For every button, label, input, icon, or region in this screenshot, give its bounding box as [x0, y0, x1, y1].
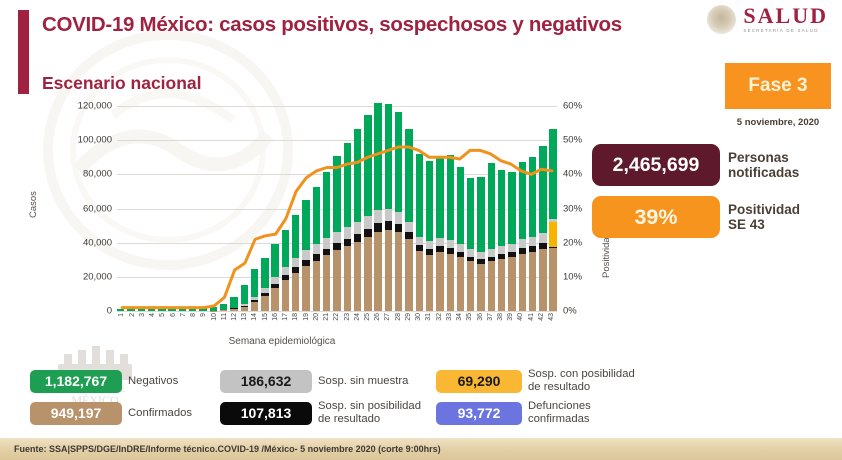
bar-segment: [498, 170, 505, 246]
chart-bar: [488, 163, 495, 311]
legend-label: Sosp. sin posibilidadde resultado: [318, 400, 430, 426]
bar-segment: [405, 129, 412, 221]
personas-notificadas-label: Personas notificadas: [728, 150, 799, 180]
bar-segment: [261, 296, 268, 311]
x-tick-label: 31: [425, 313, 432, 321]
y2-tick-label: 0%: [563, 306, 577, 317]
bar-segment: [374, 103, 381, 210]
bar-segment: [426, 255, 433, 311]
bar-segment: [508, 244, 515, 252]
bar-segment: [508, 257, 515, 311]
fase-label: Fase 3: [748, 75, 807, 97]
chart-bar: [210, 307, 217, 311]
chart-plot-area: 020,00040,00060,00080,000100,000120,000 …: [117, 106, 557, 311]
x-tick-label: 19: [303, 313, 310, 321]
chart-bar: [519, 162, 526, 311]
y-tick-label: 20,000: [83, 271, 112, 282]
bar-segment: [302, 266, 309, 311]
mexico-seal-icon: [707, 5, 736, 34]
bar-segment: [416, 237, 423, 246]
x-tick-label: 27: [384, 313, 391, 321]
bar-segment: [333, 250, 340, 311]
bar-segment: [158, 309, 165, 311]
bar-segment: [323, 255, 330, 311]
legend-value-chip: 69,290: [436, 370, 522, 393]
bar-segment: [199, 308, 206, 311]
bar-segment: [539, 249, 546, 311]
y2-tick-label: 10%: [563, 271, 582, 282]
bar-segment: [385, 230, 392, 311]
legend-label: Negativos: [128, 375, 214, 388]
x-tick-label: 26: [374, 313, 381, 321]
chart-bar: [220, 304, 227, 311]
bar-segment: [498, 246, 505, 254]
bar-segment: [282, 230, 289, 268]
x-tick-label: 24: [354, 313, 361, 321]
bar-segment: [354, 129, 361, 222]
bar-segment: [364, 229, 371, 237]
x-tick-label: 37: [487, 313, 494, 321]
bar-segment: [457, 244, 464, 252]
bar-segment: [374, 232, 381, 311]
legend-label-line1: Sosp. con posibilidad: [528, 368, 638, 381]
page-header: COVID-19 México: casos positivos, sospec…: [0, 0, 842, 52]
x-tick-label: 15: [262, 313, 269, 321]
bar-segment: [539, 146, 546, 233]
bar-segment: [477, 177, 484, 252]
legend-label-line1: Sosp. sin posibilidad: [318, 400, 430, 413]
x-tick-label: 22: [333, 313, 340, 321]
bar-segment: [436, 238, 443, 247]
bar-segment: [374, 223, 381, 232]
bar-segment: [344, 143, 351, 227]
legend-value-chip: 186,632: [220, 370, 312, 393]
chart-bar: [158, 309, 165, 311]
bar-segment: [405, 232, 412, 239]
bar-segment: [549, 222, 556, 247]
chart-bar: [436, 156, 443, 311]
salud-wordmark: SALUD: [743, 5, 828, 27]
x-tick-label: 14: [251, 313, 258, 321]
bar-segment: [179, 309, 186, 311]
chart-bar: [447, 155, 454, 311]
legend-label: Confirmados: [128, 407, 214, 420]
bar-segment: [344, 227, 351, 239]
bar-segment: [323, 249, 330, 256]
bar-segment: [282, 267, 289, 275]
bar-segment: [447, 155, 454, 240]
chart-bar: [385, 104, 392, 311]
chart-bar: [199, 308, 206, 311]
chart-bar: [477, 177, 484, 311]
chart-bar: [117, 309, 124, 311]
bar-segment: [313, 187, 320, 244]
x-tick-label: 34: [456, 313, 463, 321]
chart-bar: [529, 157, 536, 311]
report-date: 5 noviembre, 2020: [722, 117, 834, 128]
bar-segment: [395, 232, 402, 311]
bar-segment: [405, 222, 412, 233]
bar-segment: [241, 285, 248, 304]
bar-segment: [364, 237, 371, 311]
x-tick-label: 23: [344, 313, 351, 321]
y2-tick-label: 50%: [563, 135, 582, 146]
x-tick-label: 39: [507, 313, 514, 321]
chart-legend: 1,182,767Negativos186,632Sosp. sin muest…: [30, 368, 650, 426]
chart-bar: [508, 172, 515, 311]
bar-segment: [519, 239, 526, 248]
bar-segment: [529, 157, 536, 237]
bar-segment: [333, 156, 340, 232]
x-tick-label: 12: [231, 313, 238, 321]
y-axis-title: Casos: [28, 191, 39, 218]
legend-label-line2: confirmadas: [528, 413, 638, 426]
chart-bar: [179, 309, 186, 311]
bar-segment: [519, 254, 526, 311]
chart-bar: [282, 230, 289, 311]
title-accent-bar: [18, 10, 29, 94]
x-tick-label: 21: [323, 313, 330, 321]
epidemic-curve-chart: Casos Positividad Semana epidemiológica …: [32, 100, 592, 355]
bar-segment: [467, 261, 474, 311]
bar-segment: [292, 215, 299, 259]
y-tick-label: 0: [107, 306, 112, 317]
bar-segment: [395, 112, 402, 213]
bar-segment: [271, 277, 278, 284]
chart-bar: [168, 309, 175, 311]
x-tick-label: 4: [149, 313, 156, 317]
bar-segment: [529, 252, 536, 311]
x-tick-label: 6: [170, 313, 177, 317]
bar-segment: [436, 156, 443, 238]
bar-segment: [271, 244, 278, 277]
legend-label: Defuncionesconfirmadas: [528, 400, 638, 426]
bar-segment: [313, 261, 320, 311]
bar-segment: [271, 288, 278, 311]
x-tick-label: 9: [200, 313, 207, 317]
bar-segment: [354, 234, 361, 242]
chart-bar: [364, 115, 371, 311]
y2-tick-label: 40%: [563, 169, 582, 180]
chart-bar: [344, 143, 351, 311]
chart-bar: [323, 172, 330, 311]
bar-segment: [405, 239, 412, 311]
legend-label-line1: Defunciones: [528, 400, 638, 413]
bar-segment: [220, 310, 227, 311]
bar-segment: [148, 309, 155, 311]
chart-bar: [189, 309, 196, 311]
bar-segment: [230, 297, 237, 308]
bar-segment: [539, 233, 546, 243]
chart-bar: [539, 146, 546, 311]
legend-value-chip: 1,182,767: [30, 370, 122, 393]
chart-bar: [333, 156, 340, 311]
legend-value-chip: 949,197: [30, 402, 122, 425]
bar-segment: [529, 237, 536, 246]
y2-tick-label: 30%: [563, 203, 582, 214]
bar-segment: [354, 222, 361, 234]
bar-segment: [395, 212, 402, 224]
bar-segment: [189, 309, 196, 311]
chart-bar: [457, 167, 464, 311]
x-tick-label: 41: [528, 313, 535, 321]
bar-segment: [457, 257, 464, 311]
bar-segment: [374, 210, 381, 223]
bar-segment: [549, 129, 556, 220]
x-tick-label: 32: [436, 313, 443, 321]
bar-segment: [251, 302, 258, 311]
bar-segment: [549, 248, 556, 311]
stat-positividad: 39% Positividad SE 43: [592, 196, 800, 238]
x-tick-label: 30: [415, 313, 422, 321]
x-tick-label: 13: [241, 313, 248, 321]
chart-bar: [241, 285, 248, 311]
bar-segment: [344, 246, 351, 311]
bar-segment: [333, 243, 340, 250]
chart-bar: [261, 258, 268, 311]
bar-segment: [488, 261, 495, 311]
x-tick-label: 1: [118, 313, 125, 317]
x-axis-title: Semana epidemiológica: [32, 336, 532, 347]
x-tick-label: 40: [517, 313, 524, 321]
positividad-value: 39%: [592, 196, 720, 238]
positividad-label-line2: SE 43: [728, 217, 800, 232]
bar-segment: [426, 161, 433, 240]
positividad-label: Positividad SE 43: [728, 202, 800, 232]
bar-segment: [467, 249, 474, 256]
chart-bar: [498, 170, 505, 311]
bar-segment: [477, 252, 484, 259]
bar-segment: [457, 167, 464, 244]
legend-value-chip: 107,813: [220, 402, 312, 425]
bar-segment: [313, 244, 320, 254]
footer-source-bar: Fuente: SSA|SPPS/DGE/InDRE/Informe técni…: [0, 438, 842, 460]
y2-tick-label: 20%: [563, 237, 582, 248]
chart-bar: [148, 309, 155, 311]
x-tick-label: 2: [129, 313, 136, 317]
legend-label-line2: de resultado: [528, 381, 638, 394]
legend-label-line2: de resultado: [318, 413, 430, 426]
x-tick-label: 18: [292, 313, 299, 321]
salud-logo: SALUD SECRETARÍA DE SALUD: [707, 5, 828, 34]
positividad-label-line1: Positividad: [728, 202, 800, 217]
legend-label: Sosp. sin muestra: [318, 375, 430, 388]
x-tick-label: 35: [466, 313, 473, 321]
bar-segment: [241, 307, 248, 311]
bar-segment: [519, 162, 526, 240]
x-tick-label: 16: [272, 313, 279, 321]
bar-segment: [395, 224, 402, 232]
bar-segment: [354, 242, 361, 311]
chart-bar: [426, 161, 433, 311]
bar-segment: [302, 250, 309, 260]
chart-bar: [313, 187, 320, 311]
bar-segment: [477, 264, 484, 311]
bar-segment: [333, 232, 340, 243]
chart-bar: [467, 178, 474, 311]
chart-bar: [354, 129, 361, 311]
chart-bar: [416, 154, 423, 311]
x-tick-label: 7: [180, 313, 187, 317]
x-tick-label: 10: [211, 313, 218, 321]
bar-segment: [251, 269, 258, 297]
bar-segment: [426, 241, 433, 249]
bar-segment: [467, 178, 474, 250]
x-tick-label: 33: [446, 313, 453, 321]
legend-value-chip: 93,772: [436, 402, 522, 425]
y-tick-label: 60,000: [83, 203, 112, 214]
chart-bar: [405, 129, 412, 311]
x-tick-label: 5: [159, 313, 166, 317]
x-tick-label: 38: [497, 313, 504, 321]
salud-subtitle: SECRETARÍA DE SALUD: [743, 29, 828, 33]
bar-segment: [416, 154, 423, 237]
bar-segment: [436, 252, 443, 311]
x-tick-label: 8: [190, 313, 197, 317]
bar-segment: [292, 258, 299, 267]
x-tick-label: 36: [477, 313, 484, 321]
chart-bar: [127, 309, 134, 311]
bar-segment: [292, 273, 299, 311]
chart-bar: [302, 200, 309, 311]
bar-segment: [508, 172, 515, 244]
x-tick-label: 43: [548, 313, 555, 321]
bar-segment: [323, 172, 330, 238]
footer-source-text: Fuente: SSA|SPPS/DGE/InDRE/Informe técni…: [0, 444, 441, 454]
chart-bar: [292, 215, 299, 312]
chart-bar: [374, 103, 381, 311]
bar-segment: [127, 309, 134, 311]
y-tick-label: 120,000: [78, 101, 112, 112]
bar-segment: [447, 240, 454, 248]
chart-bar: [230, 297, 237, 311]
x-tick-label: 11: [221, 313, 228, 320]
y-tick-label: 40,000: [83, 237, 112, 248]
y2-axis-title: Positividad: [601, 232, 612, 278]
bar-segment: [302, 200, 309, 250]
bar-segment: [364, 216, 371, 228]
bar-segment: [168, 309, 175, 311]
y-tick-label: 100,000: [78, 135, 112, 146]
personas-notificadas-label-line1: Personas: [728, 150, 799, 165]
y-tick-label: 80,000: [83, 169, 112, 180]
chart-bar: [395, 112, 402, 312]
x-tick-label: 29: [405, 313, 412, 321]
chart-bars: [117, 106, 557, 311]
chart-bar: [271, 244, 278, 311]
bar-segment: [488, 163, 495, 249]
personas-notificadas-value: 2,465,699: [592, 144, 720, 186]
x-tick-label: 25: [364, 313, 371, 321]
x-tick-label: 28: [395, 313, 402, 321]
y2-tick-label: 60%: [563, 101, 582, 112]
bar-segment: [138, 309, 145, 311]
bar-segment: [385, 209, 392, 222]
x-tick-label: 17: [282, 313, 289, 321]
chart-bar: [549, 129, 556, 311]
bar-segment: [344, 239, 351, 247]
stat-personas-notificadas: 2,465,699 Personas notificadas: [592, 144, 799, 186]
chart-bar: [251, 269, 258, 311]
x-tick-label: 42: [538, 313, 545, 321]
bar-segment: [364, 115, 371, 216]
legend-label: Sosp. con posibilidadde resultado: [528, 368, 638, 394]
chart-bar: [138, 309, 145, 311]
personas-notificadas-label-line2: notificadas: [728, 165, 799, 180]
bar-segment: [323, 238, 330, 249]
fase-badge: Fase 3: [725, 63, 831, 109]
page-title: COVID-19 México: casos positivos, sospec…: [42, 13, 622, 37]
bar-segment: [488, 249, 495, 257]
bar-segment: [447, 254, 454, 311]
x-tick-label: 3: [139, 313, 146, 317]
bar-segment: [416, 251, 423, 311]
bar-segment: [385, 104, 392, 208]
x-tick-label: 20: [313, 313, 320, 321]
bar-segment: [117, 309, 124, 311]
bar-segment: [385, 221, 392, 230]
bar-segment: [498, 259, 505, 311]
bar-segment: [261, 258, 268, 288]
section-title: Escenario nacional: [42, 73, 202, 94]
bar-segment: [230, 309, 237, 311]
bar-segment: [282, 280, 289, 311]
